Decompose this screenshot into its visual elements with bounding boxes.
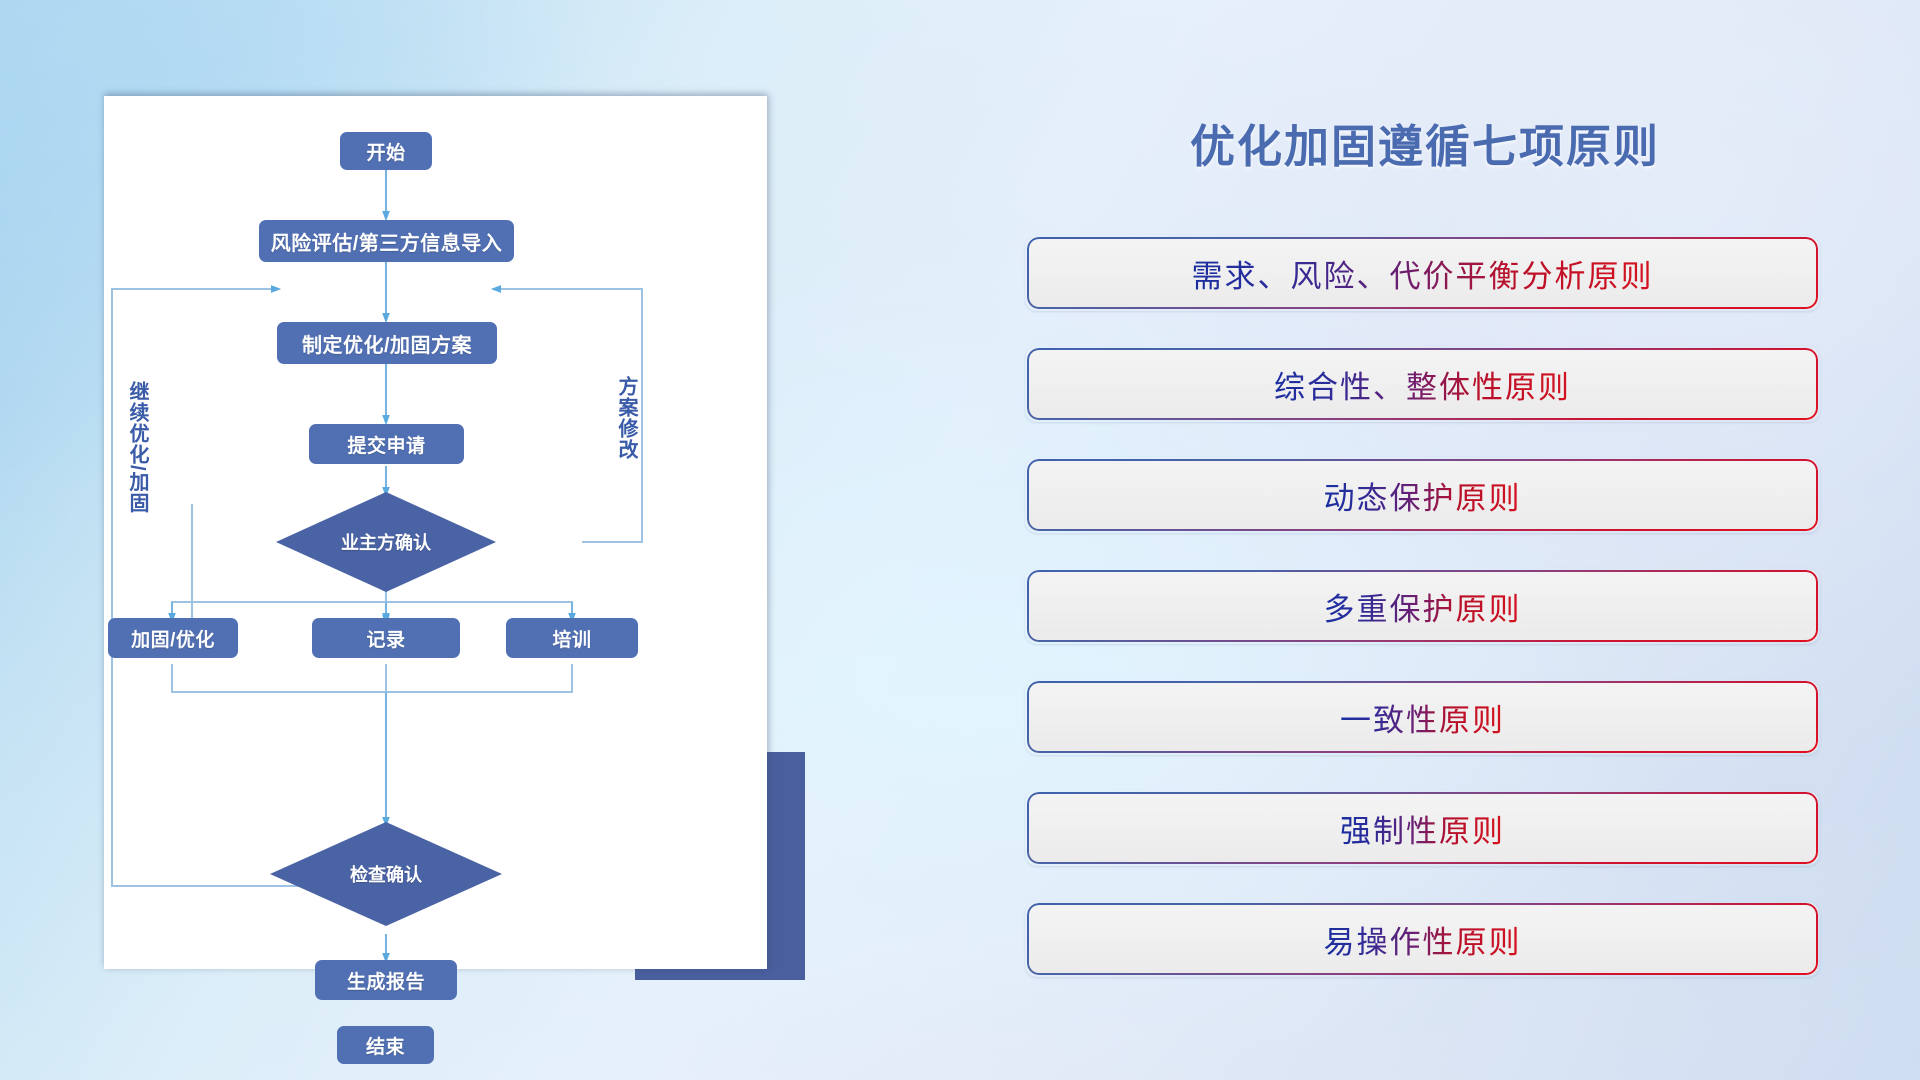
flow-node-start[interactable]: 开始 <box>340 132 432 170</box>
flow-node-risk-assessment[interactable]: 风险评估/第三方信息导入 <box>259 220 514 262</box>
flow-node-label: 风险评估/第三方信息导入 <box>271 227 503 256</box>
flow-node-label: 加固/优化 <box>131 625 215 652</box>
flow-node-label: 记录 <box>366 625 405 652</box>
principle-item-3[interactable]: 动态保护原则 <box>1025 457 1820 533</box>
principle-item-4[interactable]: 多重保护原则 <box>1025 568 1820 644</box>
flow-node-label: 结束 <box>366 1032 405 1059</box>
flow-decision-inspection-confirm[interactable]: 检查确认 <box>270 822 502 926</box>
principles-panel: 优化加固遵循七项原则 需求、风险、代价平衡分析原则 综合性、整体性原则 动态保护… <box>1020 90 1830 1010</box>
principle-item-7[interactable]: 易操作性原则 <box>1025 901 1820 977</box>
edge-label-continue-optimize: 继续优化/加固 <box>126 381 147 514</box>
principle-label: 易操作性原则 <box>1324 917 1522 962</box>
flow-node-label: 业主方确认 <box>341 529 431 555</box>
principle-label: 多重保护原则 <box>1324 584 1522 629</box>
flow-node-generate-report[interactable]: 生成报告 <box>315 960 457 1000</box>
principle-label: 强制性原则 <box>1340 806 1505 851</box>
flow-node-label: 制定优化/加固方案 <box>302 329 472 358</box>
principle-label: 一致性原则 <box>1340 695 1505 740</box>
principle-item-2[interactable]: 综合性、整体性原则 <box>1025 346 1820 422</box>
flow-node-label: 培训 <box>552 625 591 652</box>
flow-node-plan[interactable]: 制定优化/加固方案 <box>277 322 497 364</box>
principle-label: 综合性、整体性原则 <box>1274 362 1571 407</box>
principle-label: 需求、风险、代价平衡分析原则 <box>1192 251 1654 296</box>
principle-label: 动态保护原则 <box>1324 473 1522 518</box>
flow-node-record[interactable]: 记录 <box>312 618 460 658</box>
principle-item-1[interactable]: 需求、风险、代价平衡分析原则 <box>1025 235 1820 311</box>
principle-item-5[interactable]: 一致性原则 <box>1025 679 1820 755</box>
flow-node-label: 提交申请 <box>347 431 425 458</box>
flowchart-card: 开始 风险评估/第三方信息导入 制定优化/加固方案 提交申请 业主方确认 加固/… <box>104 96 767 969</box>
flow-node-training[interactable]: 培训 <box>506 618 638 658</box>
flow-node-submit-application[interactable]: 提交申请 <box>309 424 464 464</box>
flow-node-label: 检查确认 <box>350 861 422 887</box>
flow-node-reinforce-optimize[interactable]: 加固/优化 <box>108 618 238 658</box>
flow-node-end[interactable]: 结束 <box>337 1026 434 1064</box>
flow-decision-owner-confirm[interactable]: 业主方确认 <box>276 492 496 592</box>
principle-item-6[interactable]: 强制性原则 <box>1025 790 1820 866</box>
flow-node-label: 开始 <box>366 138 405 165</box>
flow-node-label: 生成报告 <box>347 967 425 994</box>
panel-title: 优化加固遵循七项原则 <box>1020 110 1830 175</box>
edge-label-plan-revision: 方案修改 <box>615 376 636 460</box>
